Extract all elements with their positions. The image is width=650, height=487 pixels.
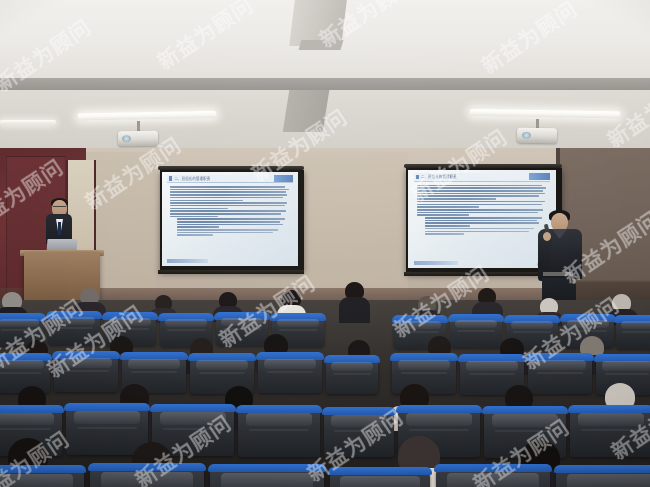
auditorium-seat[interactable] xyxy=(210,467,324,487)
slide-footer-bar xyxy=(167,259,208,263)
auditorium-seat[interactable] xyxy=(436,467,550,487)
auditorium-seat[interactable] xyxy=(66,406,148,455)
slide-body-right xyxy=(417,185,547,256)
slide-body-left xyxy=(170,186,290,254)
slide-surface-right: 二、班组长的管理职责 xyxy=(408,170,556,268)
auditorium-seat[interactable] xyxy=(570,408,650,457)
standing-presenter-waist-strap xyxy=(543,272,573,276)
auditorium-seat[interactable] xyxy=(90,466,204,487)
slide-paragraph xyxy=(417,201,547,208)
auditorium-seat[interactable] xyxy=(326,358,378,394)
podium-speaker-tie xyxy=(58,222,61,235)
slide-logo-icon xyxy=(274,175,293,182)
slide-paragraph xyxy=(417,228,547,235)
light-strip-far-left-icon xyxy=(0,120,56,125)
auditorium-seat[interactable] xyxy=(48,314,100,345)
projector-lens-icon xyxy=(122,135,131,142)
auditorium-seat[interactable] xyxy=(330,470,430,487)
slide-paragraph xyxy=(170,218,290,228)
slide-title-accent xyxy=(416,175,419,179)
slide-title-text: 二、班组长的管理职责 xyxy=(421,174,457,180)
conference-room-photo: 二、班组长的管理职责 xyxy=(0,0,650,487)
auditorium-seat[interactable] xyxy=(616,318,650,349)
slide-title-text: 二、班组长的管理职责 xyxy=(174,176,210,182)
soffit-drop-column xyxy=(283,90,330,132)
projector-lens-icon xyxy=(522,132,531,139)
auditorium-seat[interactable] xyxy=(258,355,322,393)
standing-presenter-hand xyxy=(543,232,551,241)
slide-footer-bar xyxy=(414,261,458,265)
wall-segment-center xyxy=(300,152,408,302)
slide-paragraph xyxy=(170,229,290,236)
auditorium-seat[interactable] xyxy=(450,317,502,348)
slide-logo-icon xyxy=(529,173,550,180)
auditorium-seat[interactable] xyxy=(238,408,320,457)
auditorium-seat[interactable] xyxy=(324,410,394,457)
ceiling-projector-right-icon xyxy=(517,128,557,144)
slide-paragraph xyxy=(417,217,547,227)
eyeglasses-icon xyxy=(53,206,66,210)
slide-title-accent xyxy=(169,176,172,180)
audience-shoulders xyxy=(339,297,370,323)
auditorium-seat[interactable] xyxy=(216,315,268,346)
auditorium-seat[interactable] xyxy=(528,356,592,394)
slide-paragraph xyxy=(170,202,290,209)
slide-paragraph xyxy=(170,186,290,201)
auditorium-seat[interactable] xyxy=(0,468,84,487)
slide-paragraph xyxy=(417,185,547,200)
slide-paragraph xyxy=(417,209,547,216)
auditorium-seat[interactable] xyxy=(54,354,118,392)
screen-bottom-bar-left xyxy=(158,270,304,274)
ceiling-projector-left-icon xyxy=(118,131,158,147)
slide-surface-left: 二、班组长的管理职责 xyxy=(162,172,298,266)
audience-seating-area xyxy=(0,300,650,487)
projection-screen-left: 二、班组长的管理职责 xyxy=(160,170,304,272)
ceiling-edge-band xyxy=(0,78,650,90)
slide-paragraph xyxy=(170,210,290,217)
ceiling-beam-shadow xyxy=(299,40,344,50)
auditorium-seat[interactable] xyxy=(556,468,650,487)
